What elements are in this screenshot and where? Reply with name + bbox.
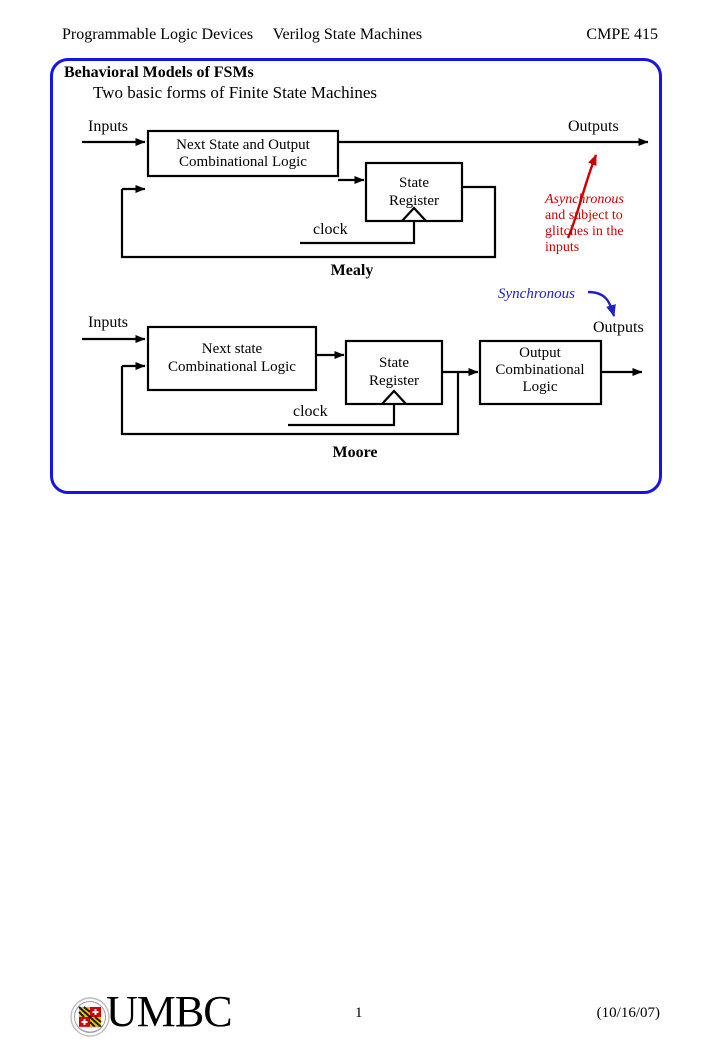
asynchronous-note-line1: Asynchronous (544, 192, 624, 207)
asynchronous-note-line2: and subject to (545, 208, 623, 223)
umbc-seal-icon (70, 997, 110, 1037)
moore-inputs-label: Inputs (88, 314, 128, 331)
page-number: 1 (355, 1005, 363, 1022)
moore-state-register-line1: State (379, 355, 409, 371)
footer-date: (10/16/07) (597, 1005, 660, 1022)
mealy-clock-label: clock (313, 221, 348, 238)
moore-output-logic-line3: Logic (523, 379, 558, 395)
mealy-comb-logic-line2: Combinational Logic (179, 154, 307, 170)
mealy-state-register-block (366, 163, 462, 221)
mealy-inputs-label: Inputs (88, 118, 128, 135)
mealy-outputs-label: Outputs (568, 118, 619, 135)
slide-footer: UMBC 1 (10/16/07) (0, 495, 720, 557)
moore-model-label: Moore (332, 444, 377, 461)
synchronous-annotation: Synchronous (498, 286, 614, 316)
fsm-diagrams: Inputs Next State and Output Combination… (0, 0, 720, 557)
moore-outputs-label: Outputs (593, 319, 644, 336)
moore-output-logic-line2: Combinational (495, 362, 584, 378)
asynchronous-annotation: Asynchronous and subject to glitches in … (544, 155, 624, 255)
asynchronous-note-line4: inputs (545, 240, 579, 255)
moore-comb-logic-line1: Next state (202, 341, 263, 357)
moore-clock-label: clock (293, 403, 328, 420)
moore-diagram: Inputs Next state Combinational Logic St… (82, 314, 644, 461)
mealy-model-label: Mealy (331, 262, 374, 279)
synchronous-arrow-icon (588, 292, 614, 316)
moore-comb-logic-line2: Combinational Logic (168, 359, 296, 375)
asynchronous-note-line3: glitches in the (545, 224, 624, 239)
umbc-wordmark: UMBC (106, 990, 232, 1034)
synchronous-note-label: Synchronous (498, 286, 575, 302)
mealy-state-register-line1: State (399, 175, 429, 191)
moore-output-logic-line1: Output (519, 345, 562, 361)
mealy-comb-logic-line1: Next State and Output (176, 137, 311, 153)
moore-state-register-line2: Register (369, 373, 419, 389)
